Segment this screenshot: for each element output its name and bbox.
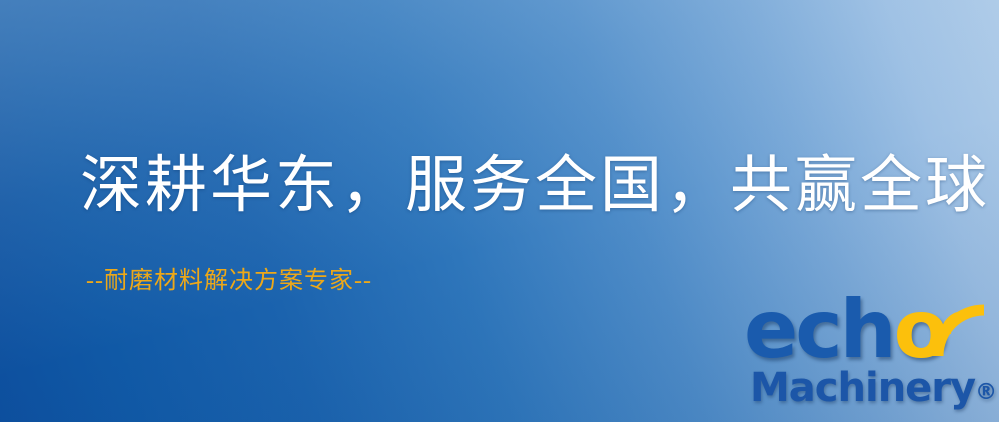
company-logo[interactable]: echo (744, 296, 996, 418)
logo-tagline: Machinery® (750, 366, 997, 415)
banner-headline: 深耕华东，服务全国，共赢全球 (80, 151, 990, 221)
registered-trademark-symbol: ® (975, 380, 997, 405)
hero-banner: 深耕华东，服务全国，共赢全球 --耐磨材料解决方案专家-- echo (0, 0, 999, 422)
logo-wordmark: echo (744, 290, 946, 370)
logo-tagline-text: Machinery (750, 365, 975, 411)
logo-wordmark-prefix: ech (744, 283, 894, 376)
signal-waves-icon (922, 294, 996, 364)
banner-subtitle: --耐磨材料解决方案专家-- (86, 266, 372, 296)
